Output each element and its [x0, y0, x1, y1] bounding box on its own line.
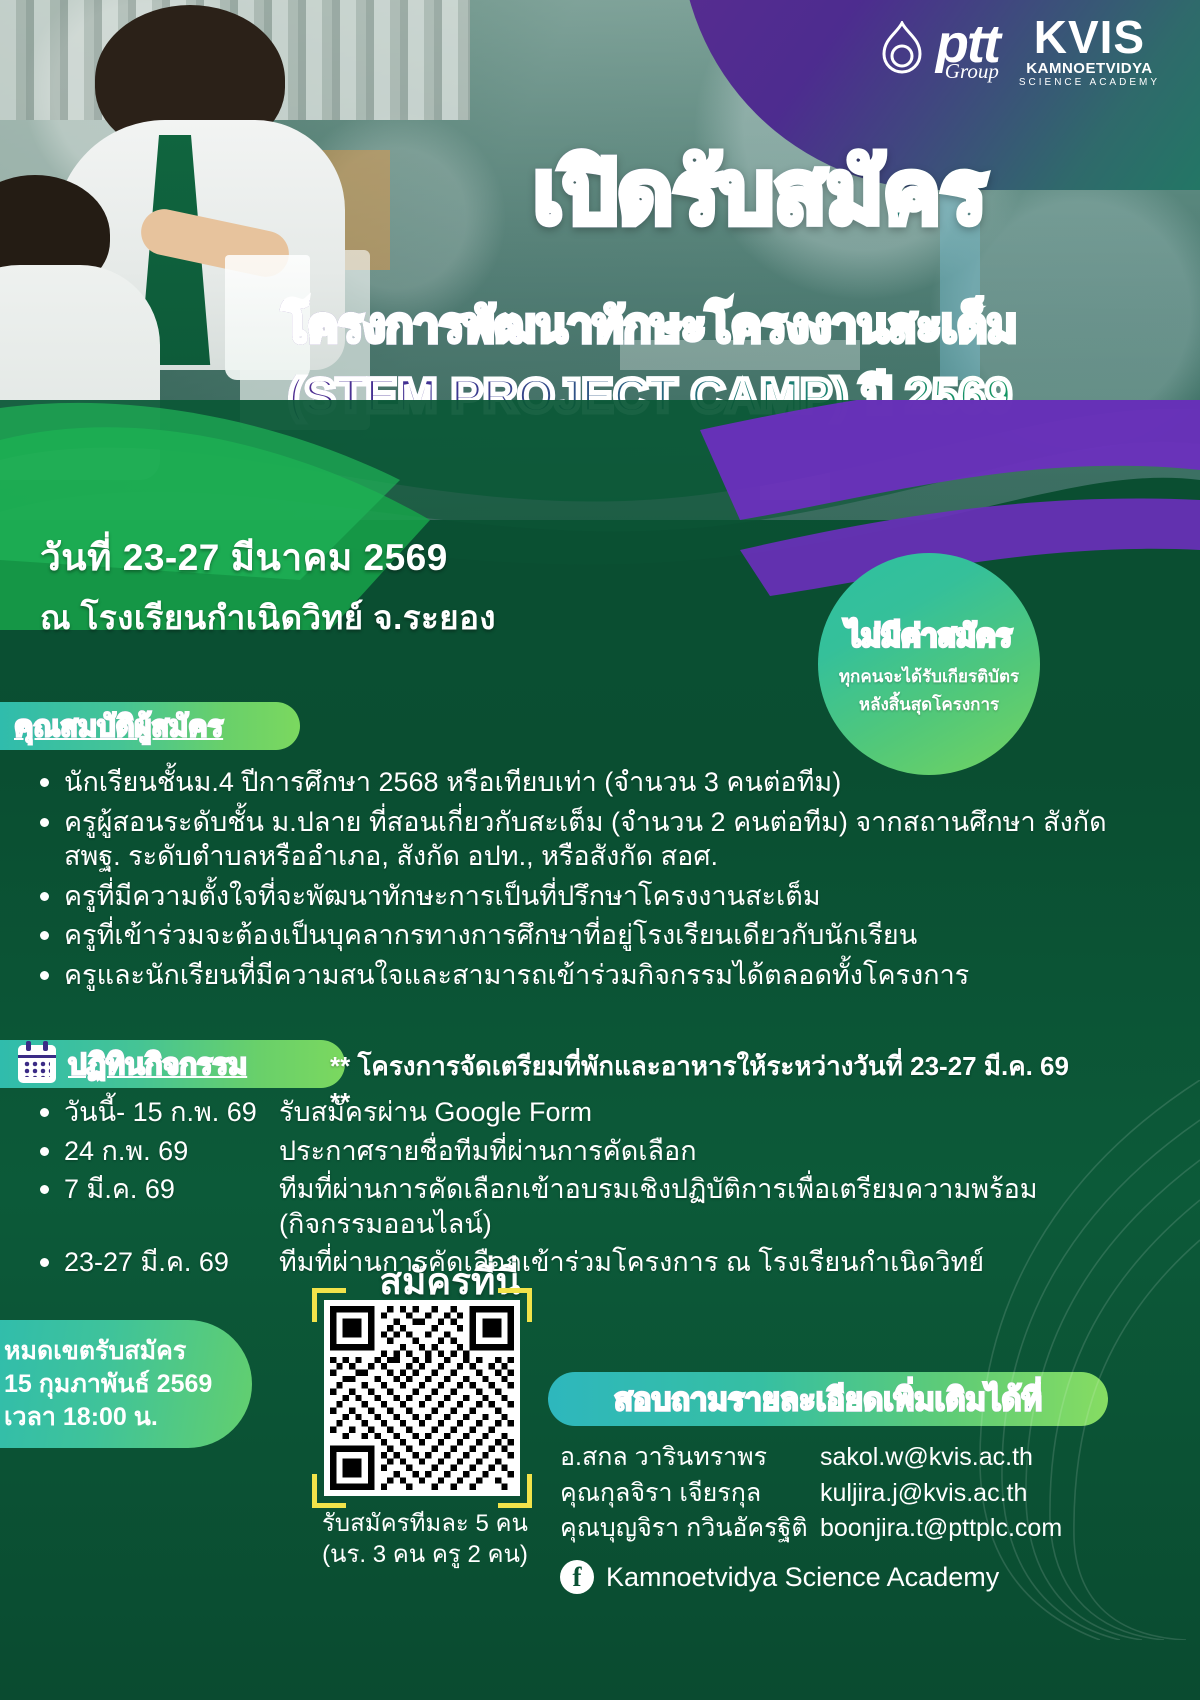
event-venue: ณ โรงเรียนกำเนิดวิทย์ จ.ระยอง — [40, 591, 640, 644]
list-item: วันนี้- 15 ก.พ. 69 รับสมัครผ่าน Google F… — [24, 1095, 1144, 1130]
qr-corner-bracket — [498, 1474, 532, 1508]
qualifications-list: นักเรียนชั้นม.4 ปีการศึกษา 2568 หรือเทีย… — [24, 765, 1124, 997]
contact-name: คุณกุลจิรา เจียรกุล — [560, 1476, 820, 1512]
qualification-text: นักเรียนชั้นม.4 ปีการศึกษา 2568 หรือเทีย… — [64, 765, 1124, 800]
qualification-text: ครูที่มีความตั้งใจที่จะพัฒนาทักษะการเป็น… — [64, 879, 1124, 914]
list-item: ครูที่เข้าร่วมจะต้องเป็นบุคลากรทางการศึก… — [24, 918, 1124, 953]
contact-name: อ.สกล วารินทราพร — [560, 1440, 820, 1476]
qr-caption-line2: (นร. 3 คน ครู 2 คน) — [280, 1539, 570, 1570]
no-fee-line2: หลังสิ้นสุดโครงการ — [859, 694, 999, 715]
list-item: 7 มี.ค. 69 ทีมที่ผ่านการคัดเลือกเข้าอบรม… — [24, 1172, 1144, 1241]
list-item: ครูผู้สอนระดับชั้น ม.ปลาย ที่สอนเกี่ยวกั… — [24, 805, 1124, 874]
calendar-activity: รับสมัครผ่าน Google Form — [279, 1095, 1144, 1130]
contact-row: คุณกุลจิรา เจียรกุล kuljira.j@kvis.ac.th — [560, 1476, 1160, 1512]
kvis-name: KAMNOETVIDYA — [1026, 61, 1152, 76]
contact-banner: สอบถามรายละเอียดเพิ่มเติมได้ที่ — [548, 1372, 1108, 1426]
no-fee-line1: ทุกคนจะได้รับเกียรติบัตร — [839, 666, 1019, 687]
qualifications-banner: คุณสมบัติผู้สมัคร — [0, 702, 300, 750]
facebook-link[interactable]: f Kamnoetvidya Science Academy — [560, 1560, 999, 1594]
list-item: นักเรียนชั้นม.4 ปีการศึกษา 2568 หรือเทีย… — [24, 765, 1124, 800]
contact-email[interactable]: kuljira.j@kvis.ac.th — [820, 1476, 1160, 1512]
ptt-logo: ptt Group — [876, 21, 999, 81]
calendar-banner: ปฏิทินกิจกรรม — [0, 1040, 345, 1088]
deadline-pill: หมดเขตรับสมัคร 15 กุมภาพันธ์ 2569 เวลา 1… — [0, 1320, 252, 1448]
qr-code-image[interactable] — [324, 1300, 520, 1496]
list-item: 24 ก.พ. 69 ประกาศรายชื่อทีมที่ผ่านการคัด… — [24, 1134, 1144, 1169]
qr-caption-line1: รับสมัครทีมละ 5 คน — [280, 1508, 570, 1539]
calendar-date: วันนี้- 15 ก.พ. 69 — [64, 1095, 279, 1130]
contact-row: คุณบุญจิรา กวินอัครฐิติ boonjira.t@pttpl… — [560, 1511, 1160, 1547]
calendar-date: 23-27 มี.ค. 69 — [64, 1245, 279, 1280]
kvis-logo: KVIS KAMNOETVIDYA SCIENCE ACADEMY — [1015, 14, 1160, 88]
calendar-icon — [18, 1045, 56, 1083]
qualification-text: ครูที่เข้าร่วมจะต้องเป็นบุคลากรทางการศึก… — [64, 918, 1124, 953]
qualifications-banner-label: คุณสมบัติผู้สมัคร — [14, 703, 223, 749]
ptt-group-label: Group — [945, 63, 999, 80]
qr-corner-bracket — [498, 1288, 532, 1322]
qr-caption: รับสมัครทีมละ 5 คน (นร. 3 คน ครู 2 คน) — [280, 1508, 570, 1570]
contact-banner-label: สอบถามรายละเอียดเพิ่มเติมได้ที่ — [614, 1374, 1042, 1424]
facebook-label: Kamnoetvidya Science Academy — [606, 1562, 999, 1593]
poster-subtitle-thai: โครงการพัฒนาทักษะโครงงานสะเต็ม — [200, 300, 1100, 352]
contact-list: อ.สกล วารินทราพร sakol.w@kvis.ac.th คุณก… — [560, 1440, 1160, 1547]
qr-code-block[interactable] — [324, 1300, 520, 1496]
contact-row: อ.สกล วารินทราพร sakol.w@kvis.ac.th — [560, 1440, 1160, 1476]
qr-corner-bracket — [312, 1288, 346, 1322]
calendar-activity: ทีมที่ผ่านการคัดเลือกเข้าอบรมเชิงปฏิบัติ… — [279, 1172, 1144, 1241]
event-date-block: วันที่ 23-27 มีนาคม 2569 ณ โรงเรียนกำเนิ… — [40, 528, 640, 644]
ptt-flame-icon — [876, 21, 928, 81]
calendar-date: 24 ก.พ. 69 — [64, 1134, 279, 1169]
no-fee-title: ไม่มีค่าสมัคร — [846, 613, 1012, 660]
kvis-wordmark: KVIS — [1034, 14, 1145, 60]
deadline-line2: 15 กุมภาพันธ์ 2569 — [4, 1368, 252, 1401]
contact-email[interactable]: sakol.w@kvis.ac.th — [820, 1440, 1160, 1476]
no-fee-badge: ไม่มีค่าสมัคร ทุกคนจะได้รับเกียรติบัตร ห… — [818, 553, 1040, 775]
contact-name: คุณบุญจิรา กวินอัครฐิติ — [560, 1511, 820, 1547]
calendar-date: 7 มี.ค. 69 — [64, 1172, 279, 1241]
event-date: วันที่ 23-27 มีนาคม 2569 — [40, 528, 640, 587]
qualification-text: ครูผู้สอนระดับชั้น ม.ปลาย ที่สอนเกี่ยวกั… — [64, 805, 1124, 874]
poster-root: ptt Group KVIS KAMNOETVIDYA SCIENCE ACAD… — [0, 0, 1200, 1700]
contact-email[interactable]: boonjira.t@pttplc.com — [820, 1511, 1160, 1547]
list-item: ครูและนักเรียนที่มีความสนใจและสามารถเข้า… — [24, 958, 1124, 993]
facebook-icon: f — [560, 1560, 594, 1594]
calendar-banner-label: ปฏิทินกิจกรรม — [68, 1041, 247, 1087]
list-item: ครูที่มีความตั้งใจที่จะพัฒนาทักษะการเป็น… — [24, 879, 1124, 914]
logo-group: ptt Group KVIS KAMNOETVIDYA SCIENCE ACAD… — [876, 14, 1160, 88]
kvis-tagline: SCIENCE ACADEMY — [1019, 78, 1160, 88]
qr-corner-bracket — [312, 1474, 346, 1508]
poster-title: เปิดรับสมัคร — [430, 148, 1090, 238]
deadline-line1: หมดเขตรับสมัคร — [4, 1335, 252, 1368]
deadline-line3: เวลา 18:00 น. — [4, 1401, 252, 1434]
qualification-text: ครูและนักเรียนที่มีความสนใจและสามารถเข้า… — [64, 958, 1124, 993]
calendar-activity: ประกาศรายชื่อทีมที่ผ่านการคัดเลือก — [279, 1134, 1144, 1169]
